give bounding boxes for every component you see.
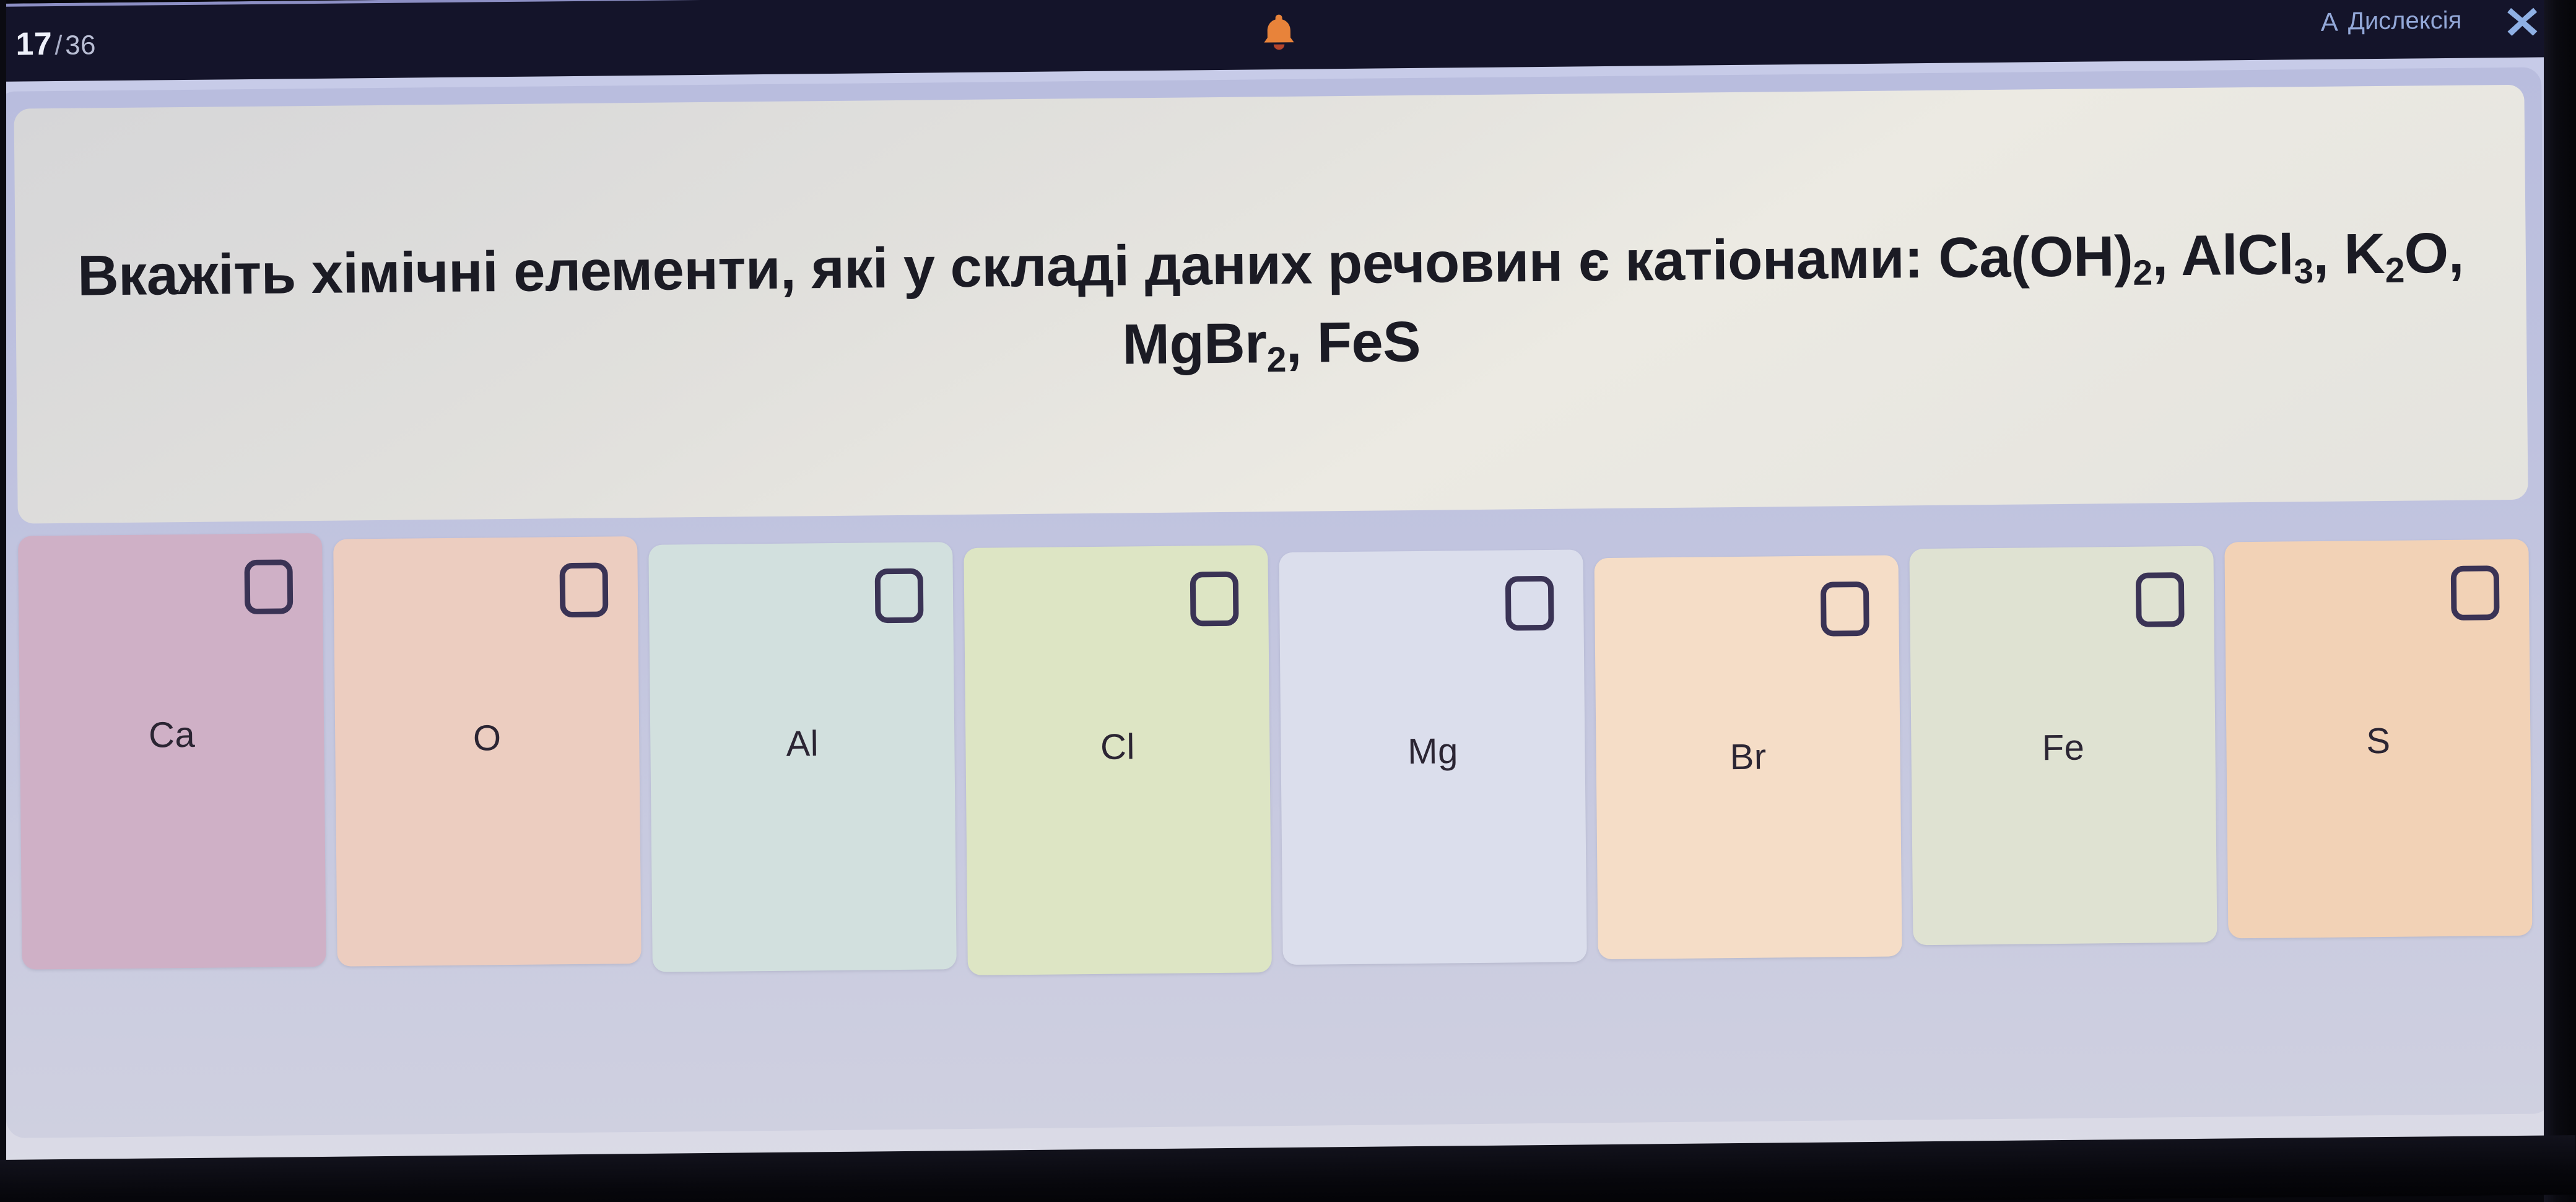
option-checkbox-cl[interactable]: [1190, 572, 1239, 627]
formula-sep-4: ,: [1286, 311, 1317, 374]
option-label-fe: Fe: [1911, 726, 2216, 770]
dyslexia-label: Дислексія: [2348, 7, 2462, 36]
option-label-al: Al: [650, 721, 955, 766]
option-checkbox-s[interactable]: [2451, 565, 2500, 621]
option-checkbox-br[interactable]: [1821, 581, 1869, 637]
answer-options-row: CaOAlClMgBrFeS: [18, 512, 2533, 1026]
quiz-container: Вкажіть хімічні елементи, які у складі д…: [0, 67, 2551, 1138]
formula-fes: FeS: [1316, 310, 1421, 375]
quiz-page-body: Вкажіть хімічні елементи, які у складі д…: [0, 57, 2576, 1200]
option-label-ca: Ca: [20, 713, 324, 757]
page-counter: 17/36: [15, 25, 96, 63]
question-card: Вкажіть хімічні елементи, які у складі д…: [14, 85, 2528, 524]
bell-icon[interactable]: [1257, 10, 1301, 54]
option-card-br[interactable]: Br: [1595, 555, 1902, 959]
option-label-o: O: [335, 716, 640, 760]
option-card-s[interactable]: S: [2224, 539, 2532, 939]
option-checkbox-mg[interactable]: [1505, 576, 1554, 631]
page-counter-current: 17: [15, 26, 52, 63]
dyslexia-toggle[interactable]: A Дислексія: [2321, 6, 2462, 37]
option-label-s: S: [2226, 719, 2531, 764]
formula-sep-2: ,: [2313, 223, 2344, 286]
option-label-br: Br: [1596, 734, 1900, 779]
formula-ca-oh-2: Ca(OH)2: [1938, 225, 2152, 290]
dyslexia-a-glyph: A: [2321, 7, 2338, 37]
formula-sep-3: ,: [2448, 222, 2464, 285]
option-label-cl: Cl: [965, 725, 1270, 769]
option-label-mg: Mg: [1281, 729, 1585, 773]
option-checkbox-fe[interactable]: [2136, 572, 2185, 627]
page-counter-separator: /: [54, 30, 63, 60]
option-checkbox-ca[interactable]: [244, 559, 293, 614]
option-card-ca[interactable]: Ca: [18, 533, 326, 970]
formula-alcl3: AlCl3: [2181, 223, 2313, 287]
formula-mgbr2: MgBr2: [1122, 311, 1286, 377]
formula-k2o: K2O: [2344, 222, 2448, 286]
option-card-cl[interactable]: Cl: [964, 545, 1272, 975]
option-card-fe[interactable]: Fe: [1909, 546, 2217, 946]
monitor-bezel-right: [2544, 0, 2576, 1202]
option-checkbox-o[interactable]: [560, 562, 609, 617]
monitor-photo: 17/36 A Дислексія: [0, 0, 2576, 1202]
close-icon[interactable]: [2502, 0, 2543, 40]
formula-sep-1: ,: [2152, 224, 2182, 287]
option-card-al[interactable]: Al: [648, 542, 957, 972]
question-sentence: Вкажіть хімічні елементи, які у складі д…: [77, 227, 1939, 308]
monitor-bezel-left: [0, 0, 6, 1202]
question-text: Вкажіть хімічні елементи, які у складі д…: [71, 214, 2471, 394]
screen-surface: 17/36 A Дислексія: [0, 0, 2576, 1200]
option-card-mg[interactable]: Mg: [1279, 549, 1586, 965]
option-card-o[interactable]: O: [333, 536, 642, 967]
option-checkbox-al[interactable]: [875, 568, 924, 624]
page-counter-total: 36: [65, 30, 96, 60]
